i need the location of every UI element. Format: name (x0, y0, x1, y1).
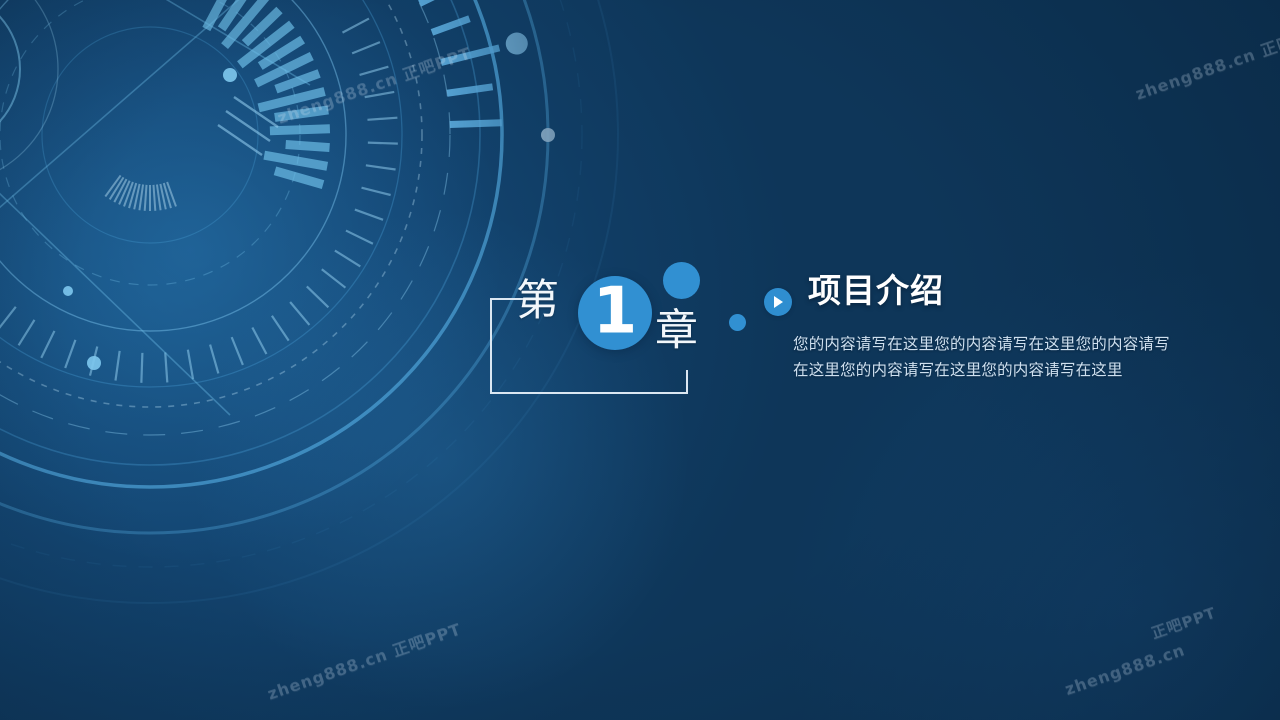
circle-dot-small-icon (729, 314, 746, 331)
bracket-bottom-edge (490, 392, 688, 394)
bracket-left-edge (490, 298, 492, 394)
slide-canvas: 第 章 1 项目介绍 您的内容请写在这里您的内容请写在这里您的内容请写 在这里您… (0, 0, 1280, 720)
watermark-top-right: zheng888.cn 正吧PPT (1132, 15, 1280, 104)
chapter-prefix-label: 第 (516, 280, 559, 323)
page-title: 项目介绍 (808, 272, 1228, 310)
watermark-top-left: zheng888.cn 正吧PPT (274, 39, 474, 128)
heading-group: 项目介绍 (808, 272, 1228, 310)
circle-dot-icon (663, 262, 700, 299)
background-glow-corner (780, 260, 1280, 720)
watermark-bottom-right-secondary: 正吧PPT (1148, 602, 1218, 644)
body-line: 在这里您的内容请写在这里您的内容请写在这里 (793, 357, 1223, 383)
chapter-number-value: 1 (578, 280, 652, 344)
background-glow-primary (0, 0, 500, 560)
play-icon (764, 288, 792, 316)
chapter-number-badge: 1 (578, 276, 652, 350)
watermark-bottom-left: zheng888.cn 正吧PPT (264, 615, 464, 704)
chapter-suffix-label: 章 (655, 310, 698, 353)
body-line: 您的内容请写在这里您的内容请写在这里您的内容请写 (793, 331, 1223, 357)
body-copy: 您的内容请写在这里您的内容请写在这里您的内容请写 在这里您的内容请写在这里您的内… (793, 331, 1223, 383)
watermark-bottom-right: zheng888.cn (1062, 640, 1187, 699)
